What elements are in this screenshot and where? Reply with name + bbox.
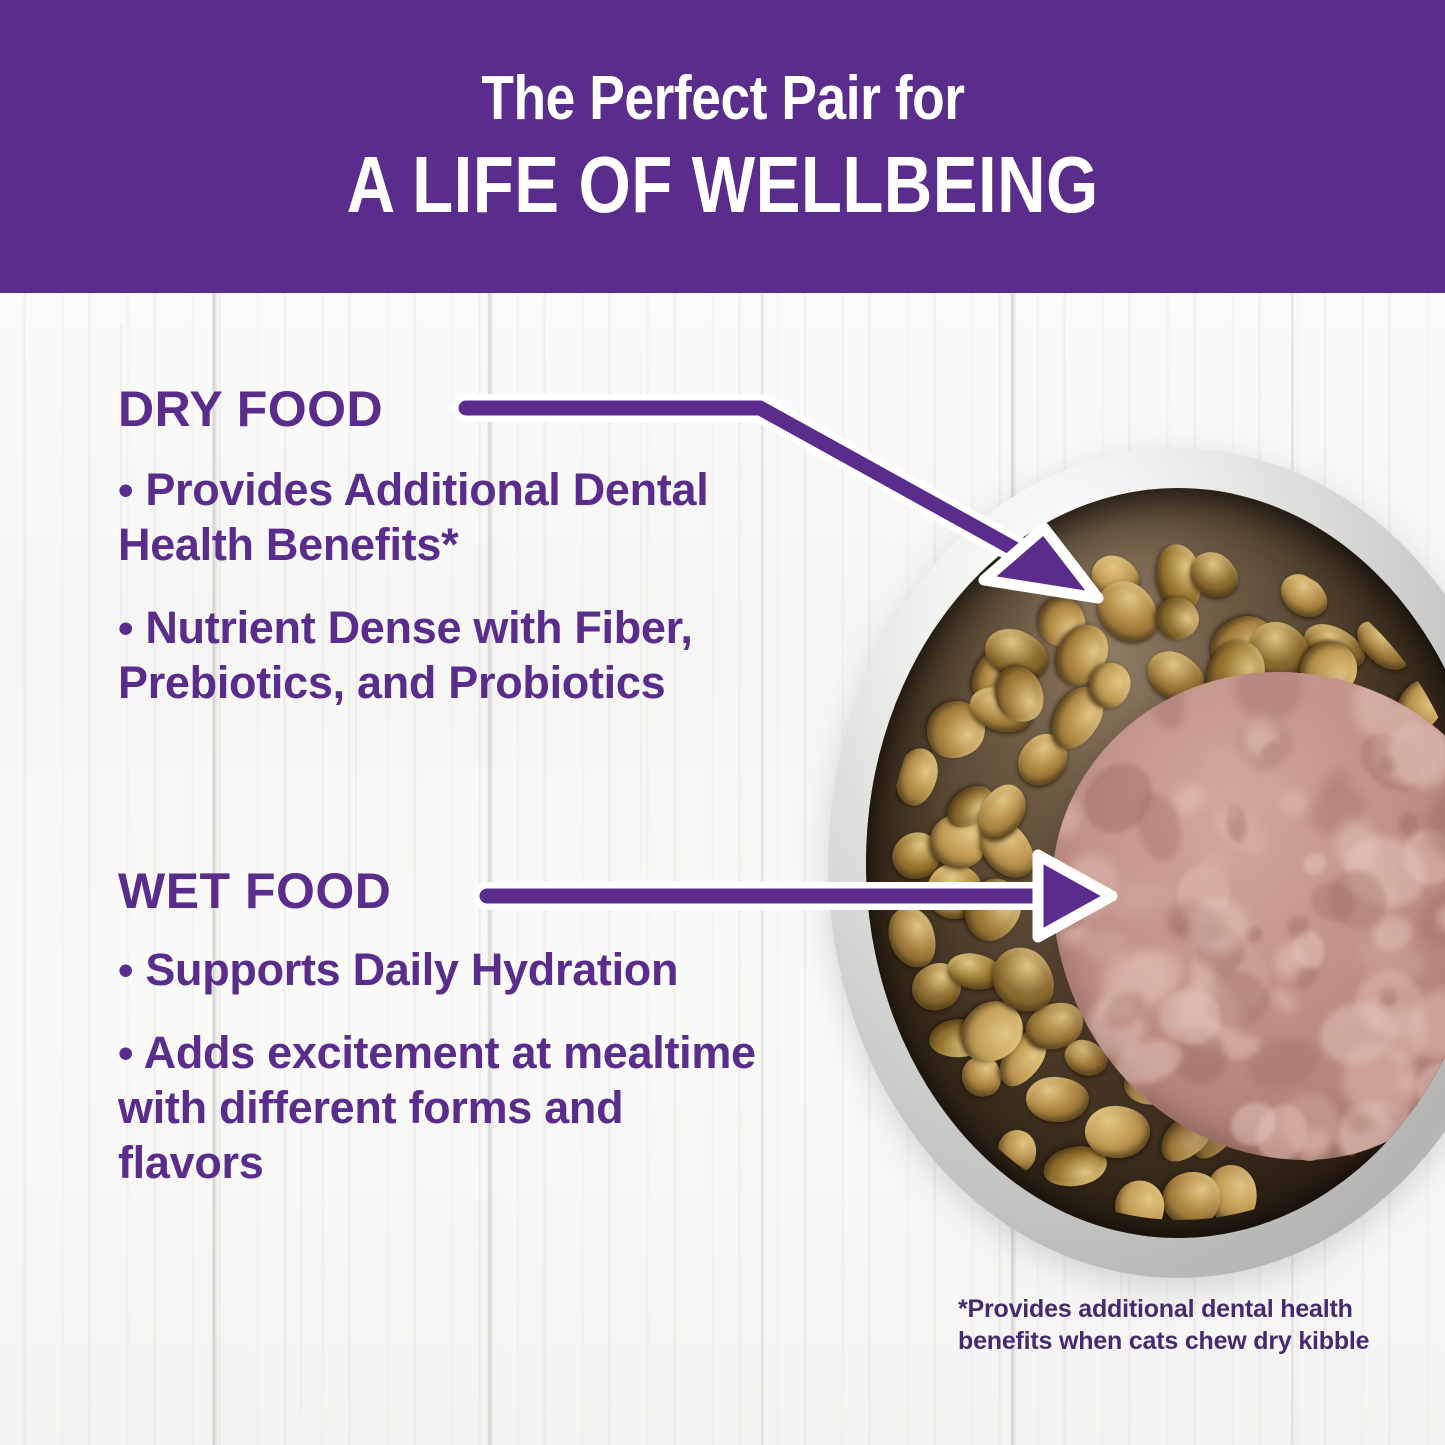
footnote-text: *Provides additional dental health benef… xyxy=(958,1294,1378,1357)
list-item-label: Nutrient Dense with Fiber, Prebiotics, a… xyxy=(118,602,693,708)
list-item: • Provides Additional Dental Health Bene… xyxy=(118,463,758,573)
pate-texture-fleck xyxy=(1286,916,1309,938)
infographic-root: The Perfect Pair for A LIFE OF WELLBEING… xyxy=(0,0,1445,1445)
kibble-piece xyxy=(1113,1179,1165,1220)
list-item: • Adds excitement at mealtime with diffe… xyxy=(118,1026,758,1191)
header-banner: The Perfect Pair for A LIFE OF WELLBEING xyxy=(0,0,1445,293)
pate-texture-fleck xyxy=(1416,1062,1445,1120)
list-item: • Supports Daily Hydration xyxy=(118,943,758,998)
bowl-interior xyxy=(866,488,1445,1238)
wet-food-pate xyxy=(1052,672,1445,1160)
pate-texture-fleck xyxy=(1299,849,1330,879)
header-line-1: The Perfect Pair for xyxy=(481,67,964,130)
bullet-icon: • xyxy=(118,466,133,515)
list-item-label: Adds excitement at mealtime with differe… xyxy=(118,1027,756,1188)
dry-food-bullet-list: • Provides Additional Dental Health Bene… xyxy=(118,463,758,739)
list-item-label: Provides Additional Dental Health Benefi… xyxy=(118,464,708,570)
list-item: • Nutrient Dense with Fiber, Prebiotics,… xyxy=(118,601,758,711)
benefits-text-column: DRY FOOD • Provides Additional Dental He… xyxy=(0,293,800,1445)
list-item-label: Supports Daily Hydration xyxy=(145,944,678,995)
bullet-icon: • xyxy=(118,946,133,995)
wet-food-bullet-list: • Supports Daily Hydration • Adds excite… xyxy=(118,943,758,1219)
pet-food-bowl-photo xyxy=(828,448,1445,1278)
section-heading-dry-food: DRY FOOD xyxy=(118,384,383,434)
section-heading-wet-food: WET FOOD xyxy=(118,866,391,916)
pate-texture-fleck xyxy=(1269,985,1300,1015)
bullet-icon: • xyxy=(118,1029,133,1078)
bullet-icon: • xyxy=(118,604,133,653)
header-line-2: A LIFE OF WELLBEING xyxy=(346,144,1098,226)
